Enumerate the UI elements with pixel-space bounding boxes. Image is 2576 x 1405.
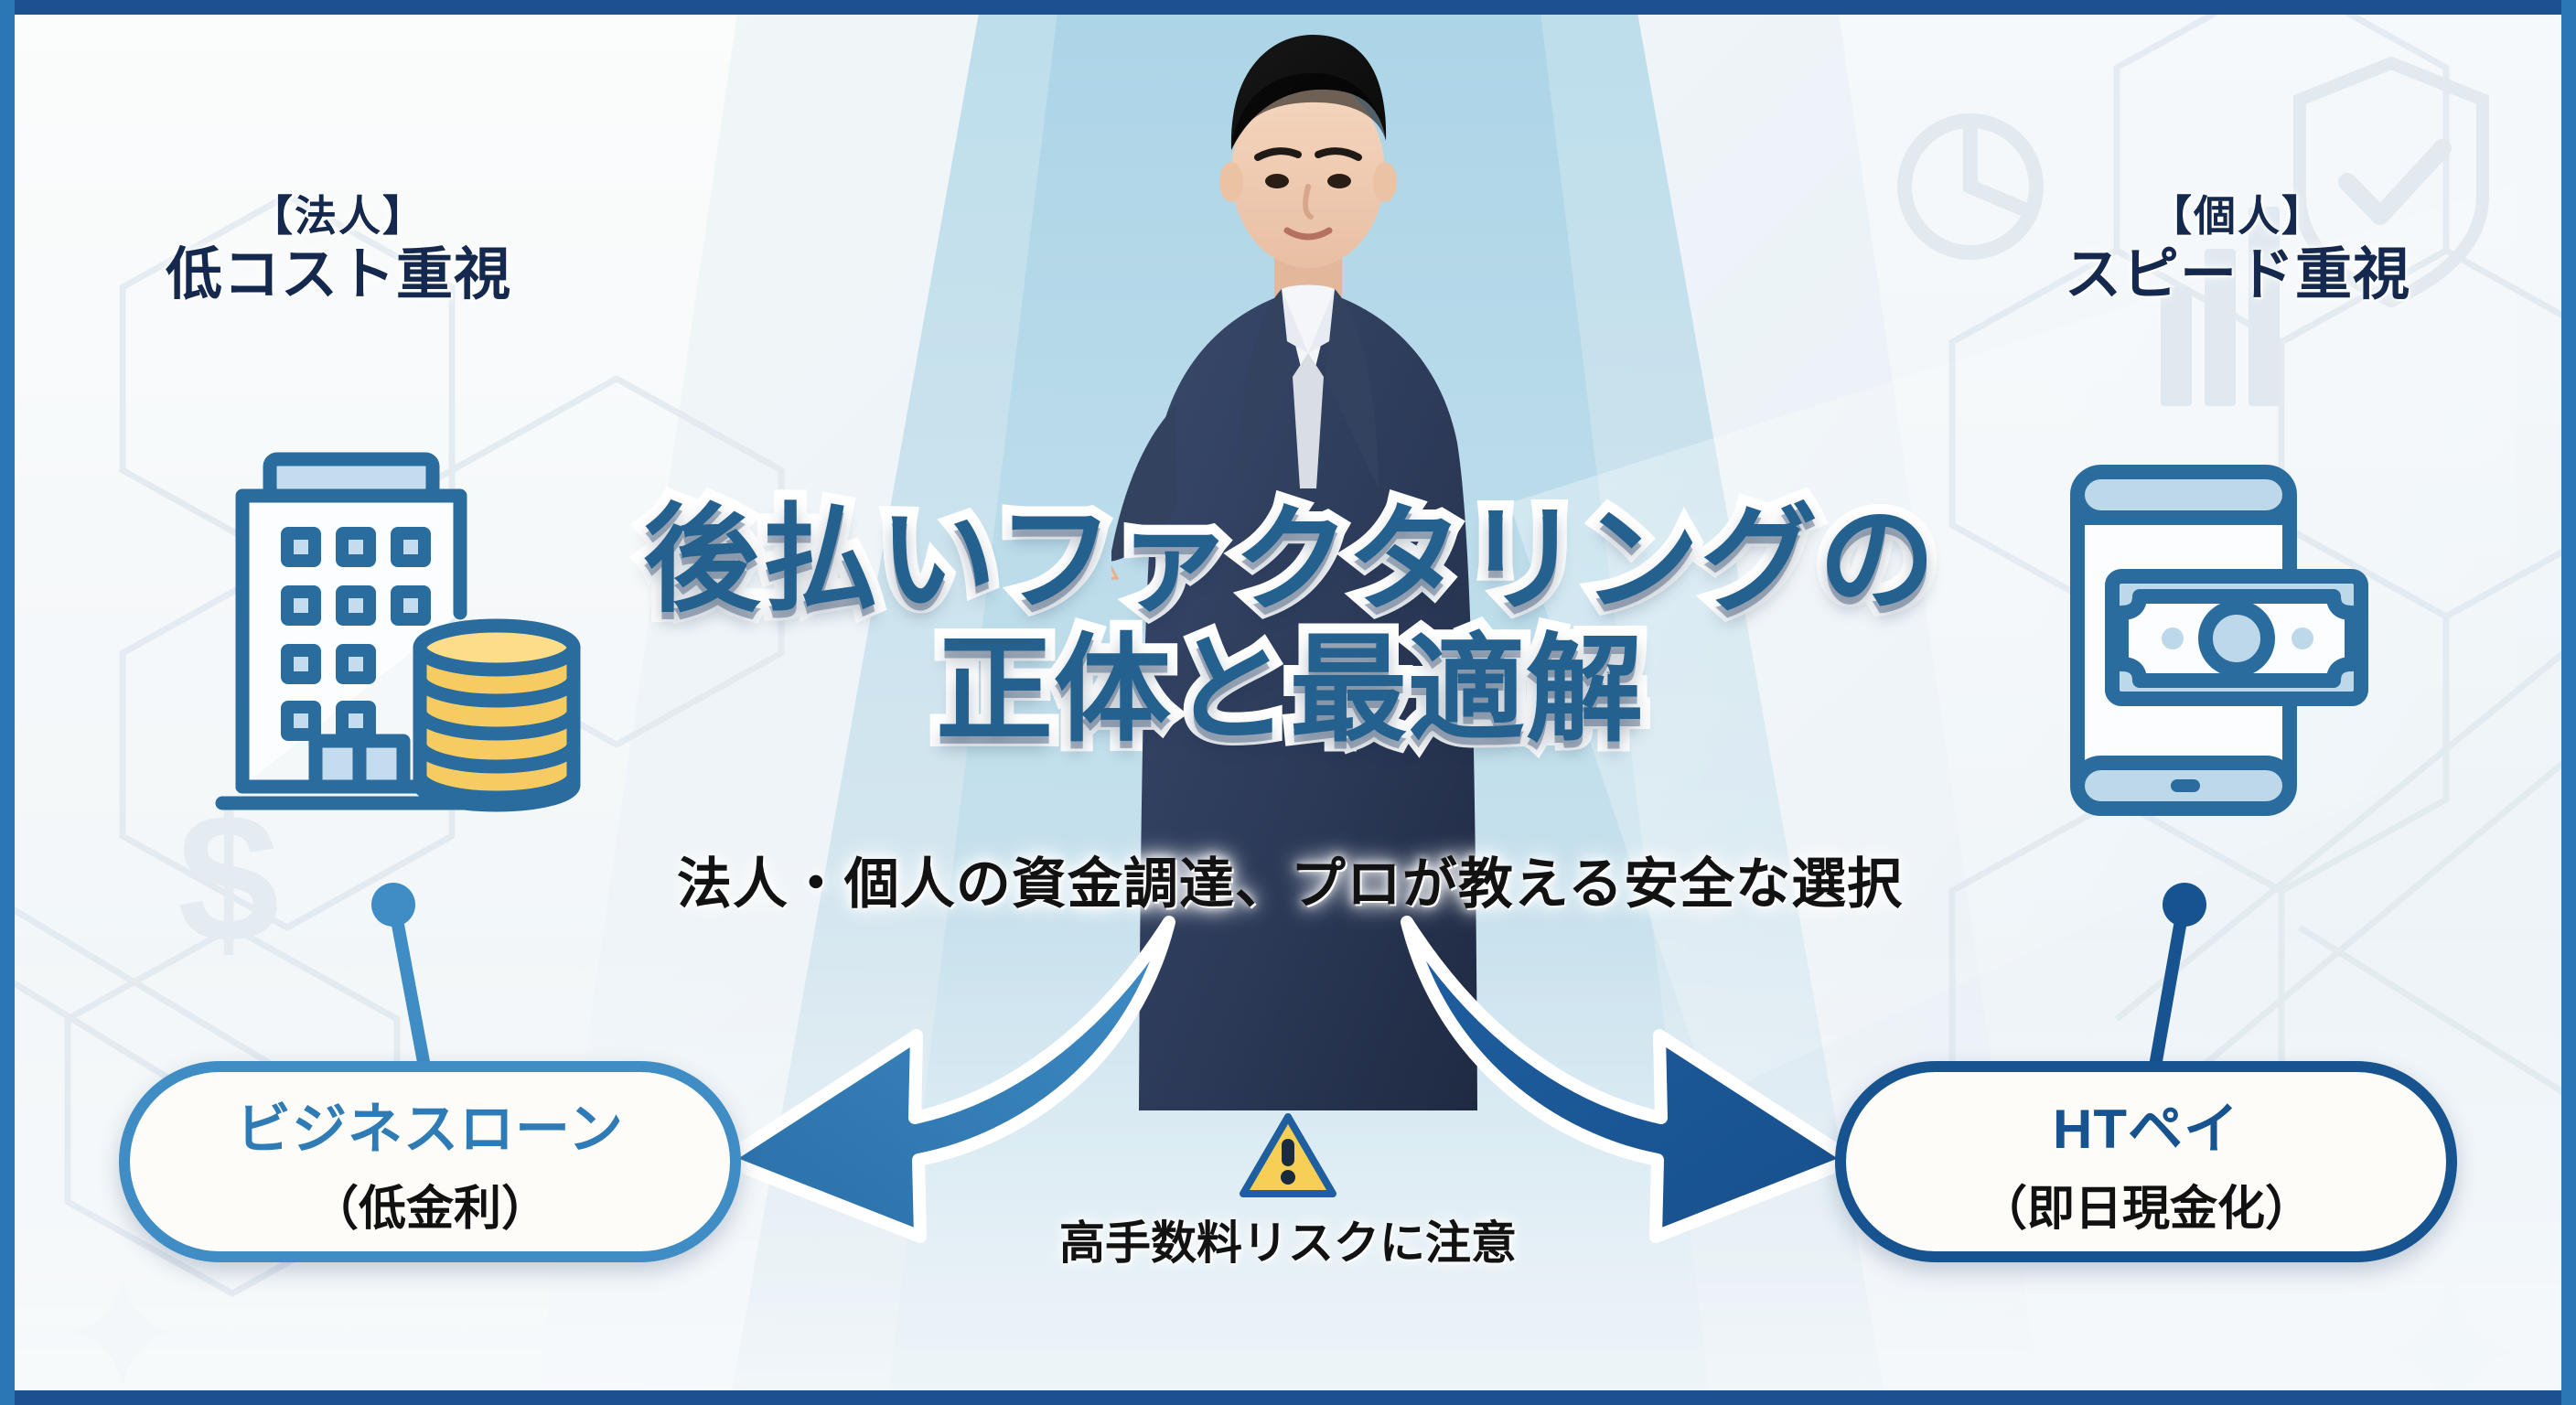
option-card-ht-pay[interactable]: HTペイ （即日現金化） <box>1835 1061 2457 1262</box>
title-line-1: 後払いファクタリングの <box>512 499 2067 623</box>
corporate-headline: 低コスト重視 <box>55 243 622 308</box>
frame-right-border <box>2561 0 2576 1405</box>
individual-tag: 【個人】 <box>1954 192 2521 240</box>
frame-left-border <box>0 0 15 1405</box>
page-title: 後払いファクタリングの 正体と最適解 <box>512 499 2067 752</box>
business-loan-title: ビジネスローン <box>236 1085 624 1164</box>
ht-pay-title: HTペイ <box>2053 1085 2239 1164</box>
hero-banner: $ <box>0 0 2576 1405</box>
corporate-tag: 【法人】 <box>55 192 622 240</box>
warning-triangle-icon <box>1238 1111 1338 1199</box>
smartphone-cash-icon <box>2041 448 2379 832</box>
frame-bottom-border <box>0 1390 2576 1405</box>
ht-pay-subtitle: （即日現金化） <box>1980 1170 2313 1239</box>
business-loan-subtitle: （低金利） <box>311 1170 549 1239</box>
page-subtitle: 法人・個人の資金調達、プロが教える安全な選択 <box>384 840 2195 919</box>
corner-label-corporate: 【法人】 低コスト重視 <box>55 192 622 308</box>
individual-headline: スピード重視 <box>1954 243 2521 308</box>
warning-block: 高手数料リスクに注意 <box>1068 1111 1508 1272</box>
corner-label-individual: 【個人】 スピード重視 <box>1954 192 2521 308</box>
warning-text: 高手数料リスクに注意 <box>1059 1207 1517 1272</box>
frame-top-border <box>0 0 2576 15</box>
title-line-2: 正体と最適解 <box>512 628 2067 753</box>
option-card-business-loan[interactable]: ビジネスローン （低金利） <box>119 1061 741 1262</box>
